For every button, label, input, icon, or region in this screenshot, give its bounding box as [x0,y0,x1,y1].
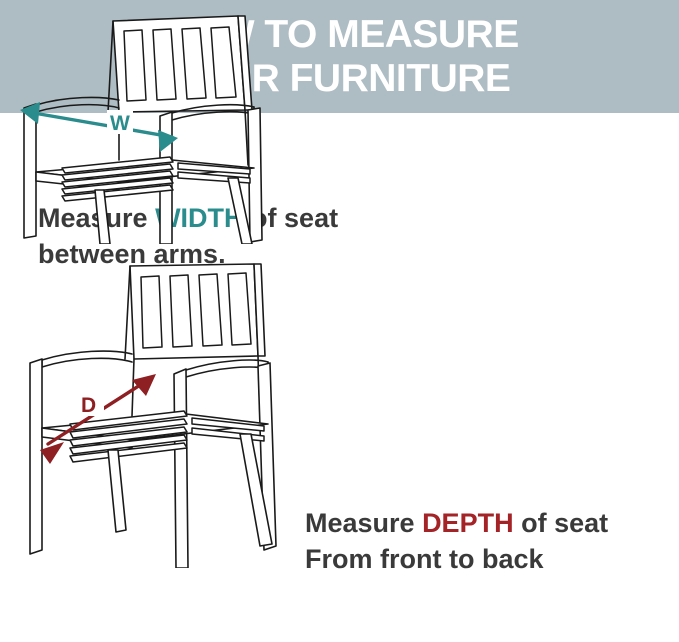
caption-depth-line-1: Measure DEPTH of seat [305,505,608,541]
chair-illustration-width: W [0,0,281,244]
chair-backrest [130,264,265,359]
caption-depth: Measure DEPTH of seat From front to back [305,505,608,577]
dimension-label-d: D [81,394,96,417]
chair-width-svg: W [0,0,281,244]
keyword-depth: DEPTH [422,508,514,538]
caption-depth-line-2: From front to back [305,541,608,577]
caption-depth-suffix: of seat [514,508,609,538]
dimension-label-w: W [110,112,130,135]
infographic-page: HOW TO MEASURE YOUR FURNITURE Measure WI… [0,0,679,642]
chair-depth-svg: D [0,244,300,568]
chair-seat [36,157,254,201]
chair-illustration-depth: D [0,244,300,568]
chair-seat [42,411,268,462]
chair-arm-supports [30,359,276,568]
chair-backrest [113,16,252,112]
caption-depth-prefix: Measure [305,508,422,538]
